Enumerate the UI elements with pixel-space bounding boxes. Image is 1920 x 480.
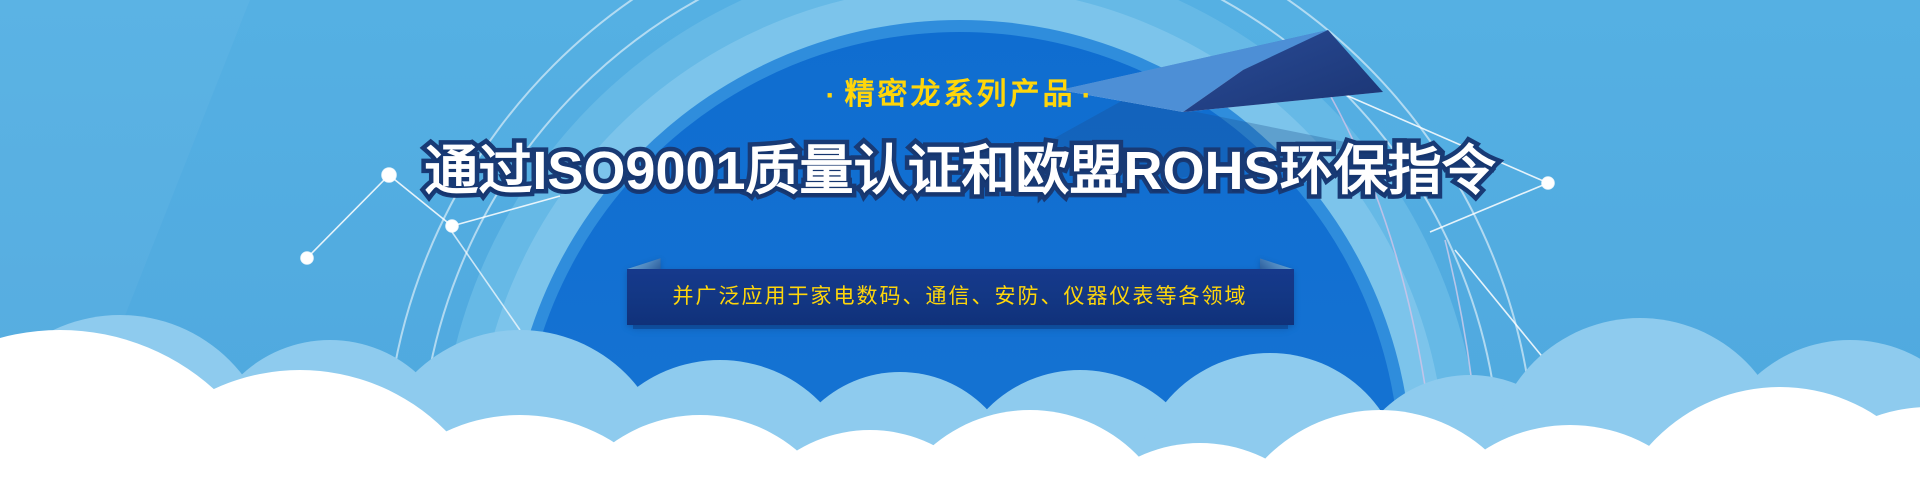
bullet-dot-left-icon: · xyxy=(820,81,845,111)
background-scenery xyxy=(0,0,1920,480)
ribbon-underline xyxy=(633,325,1288,329)
bullet-dot-right-icon: · xyxy=(1076,81,1101,111)
headline-title: 通过ISO9001质量认证和欧盟ROHS环保指令 xyxy=(424,144,1495,198)
eyebrow-text: ·精密龙系列产品· xyxy=(820,80,1101,111)
eyebrow-label: 精密龙系列产品 xyxy=(845,78,1076,111)
promo-banner: ·精密龙系列产品· 通过ISO9001质量认证和欧盟ROHS环保指令 并广泛应用… xyxy=(0,0,1920,480)
subtitle-text: 并广泛应用于家电数码、通信、安防、仪器仪表等各领域 xyxy=(627,269,1294,325)
subtitle-ribbon: 并广泛应用于家电数码、通信、安防、仪器仪表等各领域 xyxy=(627,269,1294,325)
